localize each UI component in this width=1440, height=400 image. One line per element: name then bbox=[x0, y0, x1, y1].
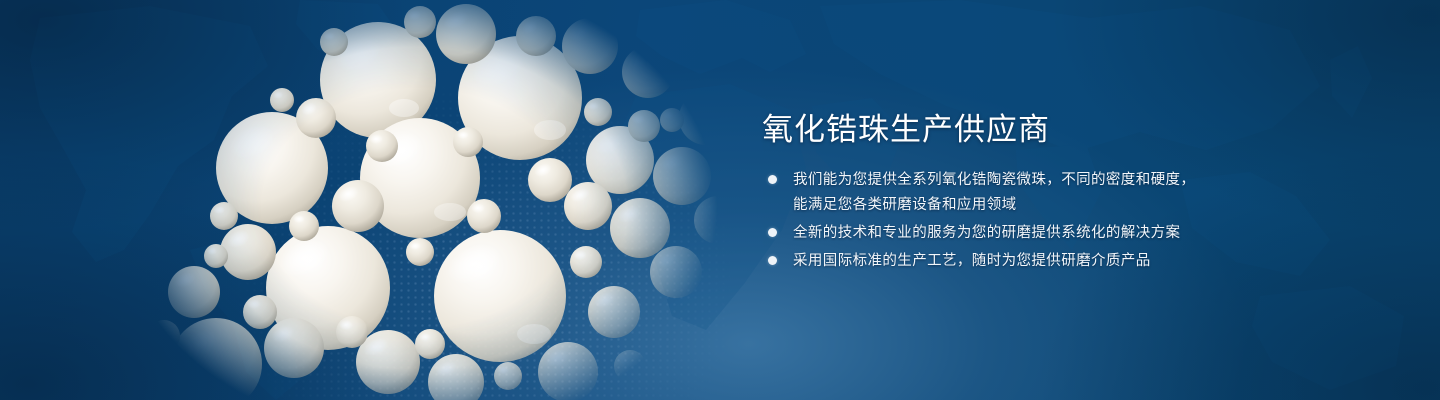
list-item: 我们能为您提供全系列氧化锆陶瓷微珠，不同的密度和硬度， 能满足您各类研磨设备和应… bbox=[764, 168, 1234, 218]
bullet-line-2: 能满足您各类研磨设备和应用领域 bbox=[793, 193, 1234, 218]
hero-banner: 氧化锆珠生产供应商 我们能为您提供全系列氧化锆陶瓷微珠，不同的密度和硬度， 能满… bbox=[0, 0, 1440, 400]
list-item: 采用国际标准的生产工艺，随时为您提供研磨介质产品 bbox=[764, 249, 1234, 274]
bullet-dot-icon bbox=[768, 175, 777, 184]
bullet-line-1: 我们能为您提供全系列氧化锆陶瓷微珠，不同的密度和硬度， bbox=[793, 168, 1234, 193]
banner-copy: 氧化锆珠生产供应商 我们能为您提供全系列氧化锆陶瓷微珠，不同的密度和硬度， 能满… bbox=[762, 0, 1242, 400]
bullet-line-1: 采用国际标准的生产工艺，随时为您提供研磨介质产品 bbox=[793, 249, 1234, 274]
bullet-dot-icon bbox=[768, 256, 777, 265]
bullet-line-1: 全新的技术和专业的服务为您的研磨提供系统化的解决方案 bbox=[793, 221, 1234, 246]
bullet-dot-icon bbox=[768, 228, 777, 237]
list-item: 全新的技术和专业的服务为您的研磨提供系统化的解决方案 bbox=[764, 221, 1234, 246]
page-title: 氧化锆珠生产供应商 bbox=[762, 112, 1050, 148]
zirconia-beads-image bbox=[120, 0, 740, 400]
feature-list: 我们能为您提供全系列氧化锆陶瓷微珠，不同的密度和硬度， 能满足您各类研磨设备和应… bbox=[764, 168, 1234, 277]
